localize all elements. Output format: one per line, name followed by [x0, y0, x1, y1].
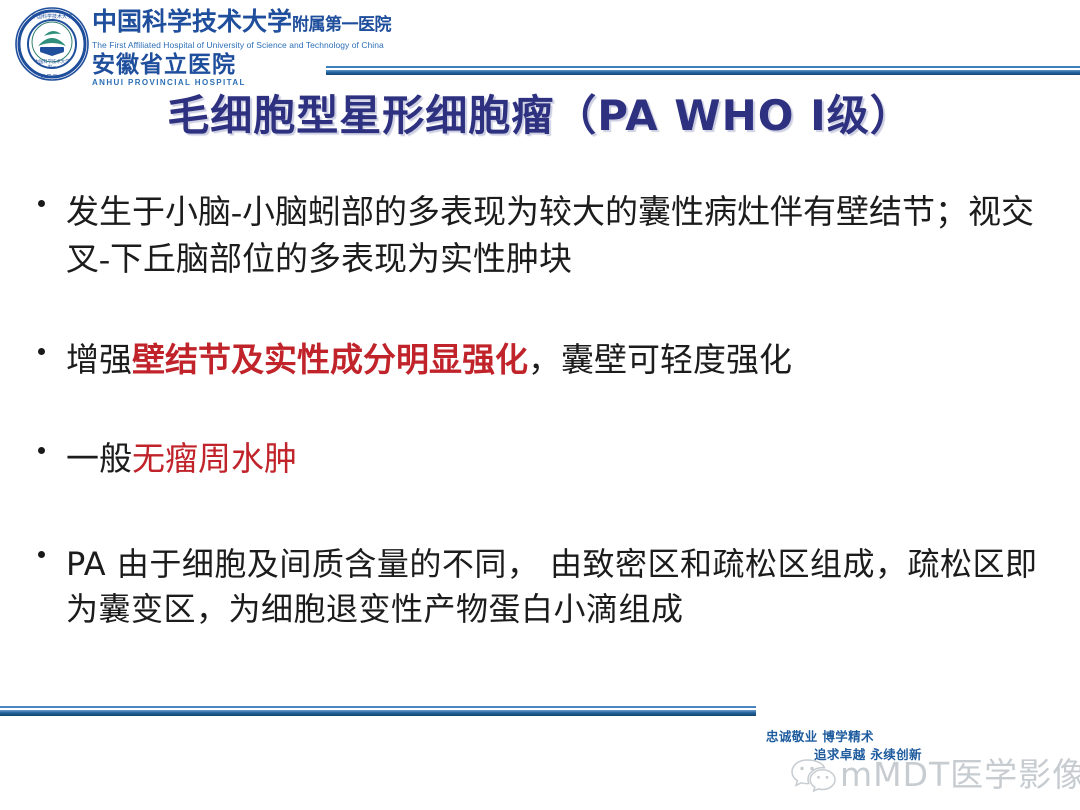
slide-header: 中国科学技术大学 附一 中国科学技术大学 附 属 第 一 中国科学技术大学附属第…: [0, 0, 1080, 88]
bullet-histology: PA 由于细胞及间质含量的不同， 由致密区和疏松区组成，疏松区即为囊变区，为细胞…: [32, 542, 1048, 632]
bullet-enhancement: 增强壁结节及实性成分明显强化，囊壁可轻度强化: [32, 338, 1048, 385]
hospital-name-cn-suffix: 附属第一医院: [292, 15, 391, 34]
svg-text:附一: 附一: [48, 63, 56, 69]
footer-rule-thin: [0, 706, 756, 708]
bullet-segment: PA 由于细胞及间质含量的不同， 由致密区和疏松区组成，疏松区即为囊变区，为细胞…: [66, 545, 1038, 628]
bullet-segment: 一般: [66, 442, 132, 478]
bullet-origin-sites: 发生于小脑-小脑蚓部的多表现为较大的囊性病灶伴有壁结节；视交叉-下丘脑部位的多表…: [32, 190, 1048, 284]
bullet-dot-icon: [38, 551, 45, 558]
hospital-alt-name-en: ANHUI PROVINCIAL HOSPITAL: [92, 78, 392, 88]
footer-slogan-line2: 追求卓越 永续创新: [766, 746, 922, 764]
footer-slogan: 忠诚敬业 博学精术 追求卓越 永续创新: [766, 728, 922, 764]
bullet-dot-icon: [38, 447, 45, 454]
bullet-text: 增强壁结节及实性成分明显强化，囊壁可轻度强化: [66, 338, 1048, 385]
bullet-list: 发生于小脑-小脑蚓部的多表现为较大的囊性病灶伴有壁结节；视交叉-下丘脑部位的多表…: [32, 190, 1048, 632]
hospital-name-cn: 中国科学技术大学附属第一医院: [92, 9, 392, 39]
svg-text:附 属 第 一: 附 属 第 一: [41, 73, 64, 80]
header-rule-thin: [326, 66, 1080, 68]
footer-rule-thick: [0, 710, 756, 716]
header-rule-thick: [326, 70, 1080, 75]
hospital-name-cn-main: 中国科学技术大学: [92, 9, 292, 36]
bullet-segment-highlight: 壁结节及实性成分明显强化: [132, 343, 528, 379]
bullet-text: PA 由于细胞及间质含量的不同， 由致密区和疏松区组成，疏松区即为囊变区，为细胞…: [66, 542, 1048, 632]
bullet-no-edema: 一般无瘤周水肿: [32, 437, 1048, 484]
bullet-segment-highlight: 无瘤周水肿: [132, 442, 297, 478]
svg-text:中国科学技术大学: 中国科学技术大学: [32, 13, 72, 20]
page-title: 毛细胞型星形细胞瘤（PA WHO I级）: [0, 90, 1080, 142]
footer-slogan-line1: 忠诚敬业 博学精术: [766, 729, 874, 744]
hospital-crest-icon: 中国科学技术大学 附一 中国科学技术大学 附 属 第 一: [14, 6, 90, 82]
presentation-slide: 中国科学技术大学 附一 中国科学技术大学 附 属 第 一 中国科学技术大学附属第…: [0, 0, 1080, 810]
bullet-dot-icon: [38, 348, 45, 355]
bullet-segment: 增强: [66, 343, 132, 379]
bullet-text: 一般无瘤周水肿: [66, 437, 1048, 484]
hospital-identity-block: 中国科学技术大学附属第一医院 The First Affiliated Hosp…: [92, 9, 392, 88]
bullet-segment: ，囊壁可轻度强化: [528, 343, 792, 379]
bullet-text: 发生于小脑-小脑蚓部的多表现为较大的囊性病灶伴有壁结节；视交叉-下丘脑部位的多表…: [66, 190, 1048, 284]
bullet-dot-icon: [38, 200, 45, 207]
hospital-name-en: The First Affiliated Hospital of Univers…: [92, 40, 392, 51]
bullet-segment: 发生于小脑-小脑蚓部的多表现为较大的囊性病灶伴有壁结节；视交叉-下丘脑部位的多表…: [66, 195, 1034, 278]
header-divider-rule: [326, 66, 1080, 75]
footer-divider-rule: [0, 706, 756, 716]
